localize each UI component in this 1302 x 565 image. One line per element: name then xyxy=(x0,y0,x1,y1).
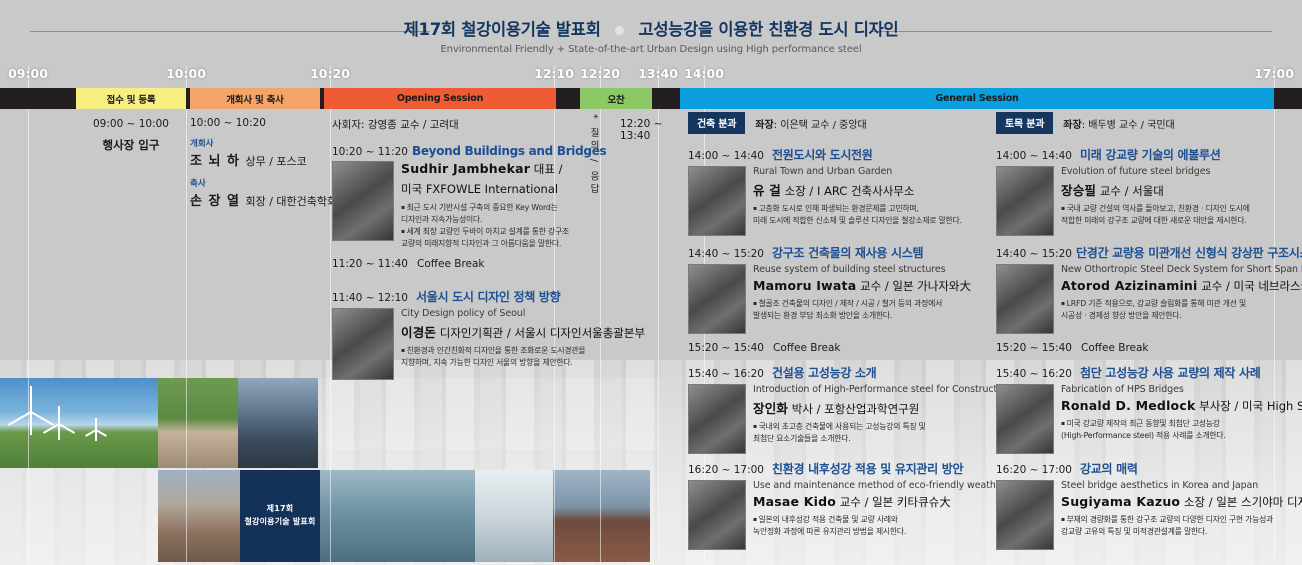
timeline-tick: 09:00 xyxy=(8,66,48,81)
talk-bullets: 최근 도시 기반시설 구축의 중요한 Key Word는디자인과 지속가능성이다… xyxy=(401,202,569,250)
talk-title-en: Reuse system of building steel structure… xyxy=(753,264,971,275)
talk-bullets: 미국 강교량 제작의 최근 동향및 최첨단 고성능강(High-Performa… xyxy=(1061,418,1302,442)
talk-bullet-line: 철골조 건축물의 디자인 / 제작 / 시공 / 철거 등의 과정에서 xyxy=(753,298,971,310)
talk-bullet-line: 부재의 경량화를 통한 강구조 교량의 다양한 디자인 구현 가능성과 xyxy=(1061,514,1302,526)
talk-time: 14:40 ~ 15:20 xyxy=(688,248,764,260)
talk-bullet-line: 최근 도시 기반시설 구축의 중요한 Key Word는 xyxy=(401,202,569,214)
column-lunch: 12:20 ~ 13:40 xyxy=(620,112,680,142)
division-tag: 토목 분과 xyxy=(996,112,1053,134)
column-civil-division: 토목 분과좌장: 배두병 교수 / 국민대14:00 ~ 14:40미래 강교량… xyxy=(996,112,1302,564)
division-chair-label: 좌장 xyxy=(755,120,773,131)
reception-time: 09:00 ~ 10:00 xyxy=(76,118,186,130)
qa-label: * 질의 / 응답 xyxy=(586,114,600,196)
coffee-break-time: 11:20 ~ 11:40 xyxy=(332,258,408,270)
talk-time: 16:20 ~ 17:00 xyxy=(688,464,764,476)
talk-body: City Design policy of Seoul이경돈 디자인기획관 / … xyxy=(332,308,580,380)
talk-bullet-line: 세계 최장 교량인 두바이 아치교 설계를 통한 강구조 xyxy=(401,226,569,238)
talk-speaker-title: 부사장 / 미국 High Steel Structures, Inc. xyxy=(1195,399,1302,413)
talk-speaker-title: 박사 / 포항산업과학연구원 xyxy=(788,402,919,416)
talk-bullets: 국내외 초고층 건축물에 사용되는 고성능강의 특징 및최첨단 요소기술들을 소… xyxy=(753,421,1011,445)
speaker-photo xyxy=(332,161,394,241)
talk-bullets: 부재의 경량화를 통한 강구조 교량의 다양한 디자인 구현 가능성과강교량 고… xyxy=(1061,514,1302,538)
timeline-tick: 13:40 xyxy=(638,66,678,81)
talk-time: 15:40 ~ 16:20 xyxy=(688,368,764,380)
talk-header: 14:40 ~ 15:20강구조 건축물의 재사용 시스템 xyxy=(688,244,988,261)
talk-speaker-title: 교수 / 일본 키타큐슈大 xyxy=(836,495,951,509)
talk-title-ko: 첨단 고성능강 사용 교량의 제작 사례 xyxy=(1080,364,1261,381)
division-chair-value: : 배두병 교수 / 국민대 xyxy=(1082,120,1175,131)
remark-speaker-title: 회장 / 대한건축학회 xyxy=(245,195,337,208)
talk-title-en: Steel bridge aesthetics in Korea and Jap… xyxy=(1061,480,1302,491)
timeline-band-row: 접수 및 등록개회사 및 축사Opening Session오찬General … xyxy=(0,88,1302,109)
talk-header: 11:40 ~ 12:10서울시 도시 디자인 정책 방향 xyxy=(332,288,580,305)
speaker-photo xyxy=(996,480,1054,550)
talk-header: 16:20 ~ 17:00강교의 매력 xyxy=(996,460,1302,477)
talk-bullet-line: 지향하며, 지속 가능한 디자인 서울의 방향을 제안한다. xyxy=(401,357,645,369)
talk-title-ko: 전원도시와 도시전원 xyxy=(772,146,873,163)
talk-speaker-name: Sudhir Jambhekar xyxy=(401,161,530,176)
column-opening-remarks: 10:00 ~ 10:20 개회사 조 뇌 하 상무 / 포스코 축사 손 장 … xyxy=(190,112,320,209)
opening-remark-item: 축사 손 장 열 회장 / 대한건축학회 xyxy=(190,177,320,209)
talk-bullet-line: (High-Performance steel) 적용 사례를 소개한다. xyxy=(1061,430,1302,442)
talk-time: 16:20 ~ 17:00 xyxy=(996,464,1072,476)
talk-bullet-line: 교량의 미래지향적 디자인과 그 아름다움을 말한다. xyxy=(401,238,569,250)
session-talk[interactable]: 14:00 ~ 14:40전원도시와 도시전원Rural Town and Ur… xyxy=(688,146,988,236)
division-chair: 좌장: 배두병 교수 / 국민대 xyxy=(1063,116,1174,131)
division-header: 토목 분과좌장: 배두병 교수 / 국민대 xyxy=(996,112,1302,134)
talk-title-ko: 친환경 내후성강 적용 및 유지관리 방안 xyxy=(772,460,963,477)
opening-remarks-list: 개회사 조 뇌 하 상무 / 포스코 축사 손 장 열 회장 / 대한건축학회 xyxy=(190,137,320,209)
session-talk[interactable]: 11:40 ~ 12:10서울시 도시 디자인 정책 방향City Design… xyxy=(332,288,580,380)
talk-speaker: 장인화 박사 / 포항산업과학연구원 xyxy=(753,398,1011,417)
division-tag: 건축 분과 xyxy=(688,112,745,134)
coffee-break-label: Coffee Break xyxy=(1081,342,1149,354)
talk-speaker-name: 장승필 xyxy=(1061,183,1096,198)
talk-speaker-name: Ronald D. Medlock xyxy=(1061,398,1195,413)
opening-remarks-time: 10:00 ~ 10:20 xyxy=(190,117,320,129)
timeline-band[interactable]: General Session xyxy=(680,88,1274,109)
remark-speaker-name: 손 장 열 xyxy=(190,194,240,209)
talk-title-en: New Othortropic Steel Deck System for Sh… xyxy=(1061,264,1302,275)
talk-header: 10:20 ~ 11:20Beyond Buildings and Bridge… xyxy=(332,144,580,158)
column-qa: * 질의 / 응답 xyxy=(586,114,604,196)
timeline-tick: 10:20 xyxy=(310,66,350,81)
talk-bullets: 철골조 건축물의 디자인 / 제작 / 시공 / 철거 등의 과정에서발생되는 … xyxy=(753,298,971,322)
talk-title-ko: 강구조 건축물의 재사용 시스템 xyxy=(772,244,923,261)
talk-info: Sudhir Jambhekar 대표 /미국 FXFOWLE Internat… xyxy=(401,161,569,250)
reception-place: 행사장 입구 xyxy=(76,137,186,153)
page-title: 제17회 철강이용기술 발표회 고성능강을 이용한 친환경 도시 디자인 xyxy=(0,16,1302,40)
division-chair-value: : 이은택 교수 / 중앙대 xyxy=(774,120,867,131)
talk-time: 14:00 ~ 14:40 xyxy=(688,150,764,162)
coffee-break-label: Coffee Break xyxy=(773,342,841,354)
talk-bullet-line: 국내 교량 건설의 역사를 돌아보고, 친환경 · 디자인 도시에 xyxy=(1061,203,1250,215)
talk-body: Sudhir Jambhekar 대표 /미국 FXFOWLE Internat… xyxy=(332,161,580,250)
division-header: 건축 분과좌장: 이은택 교수 / 중앙대 xyxy=(688,112,988,134)
talk-speaker: Atorod Azizinamini 교수 / 미국 네브라스카大 xyxy=(1061,278,1302,294)
talk-speaker-name: Masae Kido xyxy=(753,494,836,509)
talk-time: 10:20 ~ 11:20 xyxy=(332,146,404,158)
speaker-photo xyxy=(996,384,1054,454)
talk-bullets: 고층화 도시로 인해 파생되는 환경문제를 고민하며,미래 도시에 적합한 신소… xyxy=(753,203,962,227)
coffee-break: 15:20 ~ 15:40Coffee Break xyxy=(996,342,1302,354)
talk-speaker-name: Mamoru Iwata xyxy=(753,278,856,293)
remark-speaker: 조 뇌 하 상무 / 포스코 xyxy=(190,150,320,169)
talk-body: Reuse system of building steel structure… xyxy=(688,264,988,334)
talk-body: New Othortropic Steel Deck System for Sh… xyxy=(996,264,1302,334)
speaker-photo xyxy=(996,264,1054,334)
talk-speaker-name: 장인화 xyxy=(753,401,788,416)
talk-speaker-title: 교수 / 일본 가나자와大 xyxy=(856,279,971,293)
talk-speaker-title: 대표 / xyxy=(530,162,562,176)
talk-title-ko: 미래 강교량 기술의 에볼루션 xyxy=(1080,146,1221,163)
coffee-break-time: 15:20 ~ 15:40 xyxy=(688,342,764,354)
session-talk[interactable]: 10:20 ~ 11:20Beyond Buildings and Bridge… xyxy=(332,144,580,250)
talk-title-ko: 강교의 매력 xyxy=(1080,460,1138,477)
opening-session-talk-list: 10:20 ~ 11:20Beyond Buildings and Bridge… xyxy=(332,144,580,380)
talk-info: Rural Town and Urban Garden유 걸 소장 / I AR… xyxy=(753,166,962,236)
coffee-break-time: 15:20 ~ 15:40 xyxy=(996,342,1072,354)
page-subtitle: Environmental Friendly + State-of-the-ar… xyxy=(0,44,1302,55)
session-talk[interactable]: 14:00 ~ 14:40미래 강교량 기술의 에볼루션Evolution of… xyxy=(996,146,1302,236)
timeline-band[interactable]: 접수 및 등록 xyxy=(76,88,186,109)
talk-info: Evolution of future steel bridges장승필 교수 … xyxy=(1061,166,1250,236)
coffee-break-label: Coffee Break xyxy=(417,258,485,270)
talk-speaker-title: 교수 / 미국 네브라스카大 xyxy=(1198,279,1302,293)
talk-title-en: Fabrication of HPS Bridges xyxy=(1061,384,1302,395)
talk-speaker: 장승필 교수 / 서울대 xyxy=(1061,180,1250,199)
column-opening-session: 사회자: 강영종 교수 / 고려대 10:20 ~ 11:20Beyond Bu… xyxy=(332,112,580,386)
talk-title-en: City Design policy of Seoul xyxy=(401,308,645,319)
talk-speaker: Ronald D. Medlock 부사장 / 미국 High Steel St… xyxy=(1061,398,1302,414)
talk-title-en: Evolution of future steel bridges xyxy=(1061,166,1250,177)
moderator-value: : 강영종 교수 / 고려대 xyxy=(361,119,459,131)
talk-speaker: 이경돈 디자인기획관 / 서울시 디자인서울총괄본부 xyxy=(401,322,645,341)
talk-time: 11:40 ~ 12:10 xyxy=(332,292,408,304)
talk-body: Fabrication of HPS BridgesRonald D. Medl… xyxy=(996,384,1302,454)
talk-bullet-line: LRFD 기준 적용으로, 강교량 슬림화를 통해 미관 개선 및 xyxy=(1061,298,1302,310)
talk-info: Introduction of High-Performance steel f… xyxy=(753,384,1011,454)
talk-bullet-line: 디자인과 지속가능성이다. xyxy=(401,214,569,226)
timeline-band[interactable]: 오찬 xyxy=(580,88,652,109)
talk-bullet-line: 발생되는 환경 부담 최소화 방안을 소개한다. xyxy=(753,310,971,322)
timeline-band[interactable]: 개회사 및 축사 xyxy=(190,88,320,109)
remark-speaker-title: 상무 / 포스코 xyxy=(245,155,306,168)
talk-time: 14:00 ~ 14:40 xyxy=(996,150,1072,162)
talk-info: New Othortropic Steel Deck System for Sh… xyxy=(1061,264,1302,334)
talk-bullet-line: 친환경과 인간친화적 디자인을 통한 조화로운 도시경관을 xyxy=(401,345,645,357)
talk-speaker: Sudhir Jambhekar 대표 / xyxy=(401,161,569,177)
talk-bullet-line: 적합한 미래의 강구조 교량에 대한 새로운 대안을 제시한다. xyxy=(1061,215,1250,227)
division-chair-label: 좌장 xyxy=(1063,120,1081,131)
talk-title-en: Rural Town and Urban Garden xyxy=(753,166,962,177)
column-reception: 09:00 ~ 10:00 행사장 입구 xyxy=(76,112,186,153)
talk-speaker-name: Atorod Azizinamini xyxy=(1061,278,1198,293)
talk-speaker: 유 걸 소장 / I ARC 건축사사무소 xyxy=(753,180,962,199)
session-talk[interactable]: 14:40 ~ 15:20강구조 건축물의 재사용 시스템Reuse syste… xyxy=(688,244,988,334)
timeline-tick: 12:20 xyxy=(580,66,620,81)
talk-bullet-line: 국내외 초고층 건축물에 사용되는 고성능강의 특징 및 xyxy=(753,421,1011,433)
talk-header: 14:00 ~ 14:40미래 강교량 기술의 에볼루션 xyxy=(996,146,1302,163)
talk-header: 15:40 ~ 16:20건설용 고성능강 소개 xyxy=(688,364,988,381)
talk-header: 14:00 ~ 14:40전원도시와 도시전원 xyxy=(688,146,988,163)
speaker-photo xyxy=(688,384,746,454)
talk-body: Introduction of High-Performance steel f… xyxy=(688,384,988,454)
talk-bullets: 국내 교량 건설의 역사를 돌아보고, 친환경 · 디자인 도시에적합한 미래의… xyxy=(1061,203,1250,227)
session-talk[interactable]: 16:20 ~ 17:00강교의 매력Steel bridge aestheti… xyxy=(996,460,1302,550)
bullet-dot-icon xyxy=(615,26,624,35)
opening-session-moderator: 사회자: 강영종 교수 / 고려대 xyxy=(332,117,580,132)
talk-bullet-line: 시공성 · 경제성 향상 방안을 제안한다. xyxy=(1061,310,1302,322)
remark-role: 축사 xyxy=(190,177,320,189)
coffee-break: 15:20 ~ 15:40Coffee Break xyxy=(688,342,988,354)
talk-body: Evolution of future steel bridges장승필 교수 … xyxy=(996,166,1302,236)
talk-bullet-line: 미래 도시에 적합한 신소재 및 솔루션 디자인을 철강소재로 말한다. xyxy=(753,215,962,227)
speaker-photo xyxy=(996,166,1054,236)
talk-body: Rural Town and Urban Garden유 걸 소장 / I AR… xyxy=(688,166,988,236)
talk-title-ko: Beyond Buildings and Bridges xyxy=(412,144,606,158)
talk-speaker-name: 이경돈 xyxy=(401,325,436,340)
talk-speaker-name: Sugiyama Kazuo xyxy=(1061,494,1180,509)
session-talk[interactable]: 14:40 ~ 15:20단경간 교량용 미관개선 신형식 강상판 구조시스템N… xyxy=(996,244,1302,334)
timeline-tick: 17:00 xyxy=(1254,66,1294,81)
talk-title-en: Introduction of High-Performance steel f… xyxy=(753,384,1011,395)
talk-time: 15:40 ~ 16:20 xyxy=(996,368,1072,380)
remark-speaker-name: 조 뇌 하 xyxy=(190,154,240,169)
timeline-band[interactable]: Opening Session xyxy=(324,88,556,109)
talk-title-ko: 건설용 고성능강 소개 xyxy=(772,364,876,381)
talk-info: Steel bridge aesthetics in Korea and Jap… xyxy=(1061,480,1302,550)
speaker-photo xyxy=(688,166,746,236)
timeline-tick: 10:00 xyxy=(166,66,206,81)
talk-title-ko: 단경간 교량용 미관개선 신형식 강상판 구조시스템 xyxy=(1076,244,1302,261)
column-architecture-division: 건축 분과좌장: 이은택 교수 / 중앙대14:00 ~ 14:40전원도시와 … xyxy=(688,112,988,564)
speaker-photo xyxy=(688,264,746,334)
talk-info: Reuse system of building steel structure… xyxy=(753,264,971,334)
title-right: 고성능강을 이용한 친환경 도시 디자인 xyxy=(638,20,898,39)
speaker-photo xyxy=(332,308,394,380)
talk-speaker: Sugiyama Kazuo 소장 / 일본 스기야마 디자인 연구소 xyxy=(1061,494,1302,510)
remark-role: 개회사 xyxy=(190,137,320,149)
talk-title-ko: 서울시 도시 디자인 정책 방향 xyxy=(416,288,560,305)
talk-speaker: Mamoru Iwata 교수 / 일본 가나자와大 xyxy=(753,278,971,294)
talk-bullet-line: 강교량 고유의 특징 및 미적경관설계를 말한다. xyxy=(1061,526,1302,538)
talk-speaker-title: 디자인기획관 / 서울시 디자인서울총괄본부 xyxy=(436,326,645,340)
session-talk[interactable]: 15:40 ~ 16:20첨단 고성능강 사용 교량의 제작 사례Fabrica… xyxy=(996,364,1302,454)
coffee-break: 11:20 ~ 11:40Coffee Break xyxy=(332,258,580,270)
talk-speaker-title: 교수 / 서울대 xyxy=(1096,184,1164,198)
moderator-label: 사회자 xyxy=(332,119,361,131)
talk-bullet-line: 미국 강교량 제작의 최근 동향및 최첨단 고성능강 xyxy=(1061,418,1302,430)
talk-bullets: LRFD 기준 적용으로, 강교량 슬림화를 통해 미관 개선 및시공성 · 경… xyxy=(1061,298,1302,322)
speaker-photo xyxy=(688,480,746,550)
talk-header: 15:40 ~ 16:20첨단 고성능강 사용 교량의 제작 사례 xyxy=(996,364,1302,381)
timeline-tick: 12:10 xyxy=(534,66,574,81)
lunch-time: 12:20 ~ 13:40 xyxy=(620,118,680,142)
session-talk[interactable]: 15:40 ~ 16:20건설용 고성능강 소개Introduction of … xyxy=(688,364,988,454)
talk-bullet-line: 최첨단 요소기술들을 소개한다. xyxy=(753,433,1011,445)
talk-body: Steel bridge aesthetics in Korea and Jap… xyxy=(996,480,1302,550)
talk-speaker-name: 유 걸 xyxy=(753,183,781,198)
division-chair: 좌장: 이은택 교수 / 중앙대 xyxy=(755,116,866,131)
page-header: 제17회 철강이용기술 발표회 고성능강을 이용한 친환경 도시 디자인 Env… xyxy=(0,0,1302,62)
talk-bullet-line: 고층화 도시로 인해 파생되는 환경문제를 고민하며, xyxy=(753,203,962,215)
talk-speaker-org: 미국 FXFOWLE International xyxy=(401,181,569,197)
title-left: 제17회 철강이용기술 발표회 xyxy=(404,20,601,39)
talk-header: 16:20 ~ 17:00친환경 내후성강 적용 및 유지관리 방안 xyxy=(688,460,988,477)
talk-speaker-title: 소장 / I ARC 건축사사무소 xyxy=(781,184,915,198)
talk-bullets: 친환경과 인간친화적 디자인을 통한 조화로운 도시경관을지향하며, 지속 가능… xyxy=(401,345,645,369)
talk-speaker-title: 소장 / 일본 스기야마 디자인 연구소 xyxy=(1180,495,1302,509)
session-talk[interactable]: 16:20 ~ 17:00친환경 내후성강 적용 및 유지관리 방안Use an… xyxy=(688,460,988,550)
talk-info: Fabrication of HPS BridgesRonald D. Medl… xyxy=(1061,384,1302,454)
opening-remark-item: 개회사 조 뇌 하 상무 / 포스코 xyxy=(190,137,320,169)
header-center: 제17회 철강이용기술 발표회 고성능강을 이용한 친환경 도시 디자인 Env… xyxy=(0,16,1302,55)
talk-time: 14:40 ~ 15:20 xyxy=(996,248,1068,260)
talk-header: 14:40 ~ 15:20단경간 교량용 미관개선 신형식 강상판 구조시스템 xyxy=(996,244,1302,261)
timeline-tick: 14:00 xyxy=(684,66,724,81)
talk-body: Use and maintenance method of eco-friend… xyxy=(688,480,988,550)
talk-info: City Design policy of Seoul이경돈 디자인기획관 / … xyxy=(401,308,645,380)
remark-speaker: 손 장 열 회장 / 대한건축학회 xyxy=(190,190,320,209)
timeline-ticks: 09:0010:0010:2012:1012:2013:4014:0017:00 xyxy=(0,66,1302,86)
